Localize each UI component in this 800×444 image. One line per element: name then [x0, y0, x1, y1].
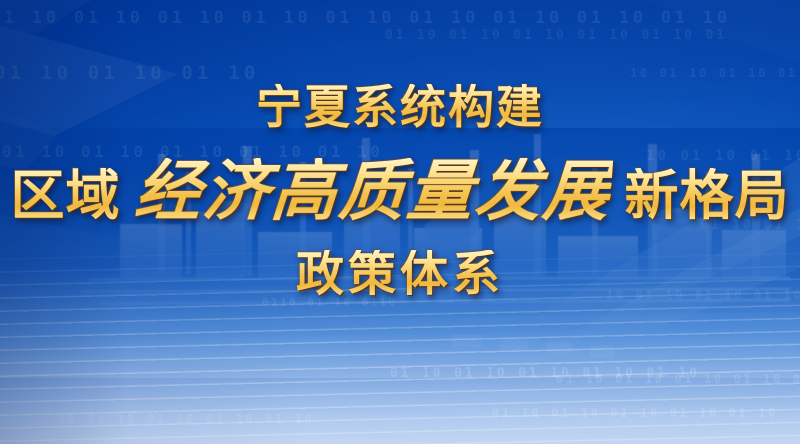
title-line-2-suffix: 新格局 [625, 168, 790, 222]
title-line-1: 宁夏系统构建 [256, 84, 544, 130]
title-line-3: 政策体系 [296, 250, 504, 298]
title-line-2-emphasis: 经济高质量发展 [132, 158, 613, 224]
policy-banner: 01 10 01 10 01 10 01 10 01 10 01 10 01 1… [0, 0, 800, 444]
banner-title-block: 宁夏系统构建 区域 经济高质量发展 新格局 政策体系 [0, 0, 800, 444]
title-line-2: 区域 经济高质量发展 新格局 [11, 158, 790, 224]
title-line-2-prefix: 区域 [11, 168, 121, 222]
